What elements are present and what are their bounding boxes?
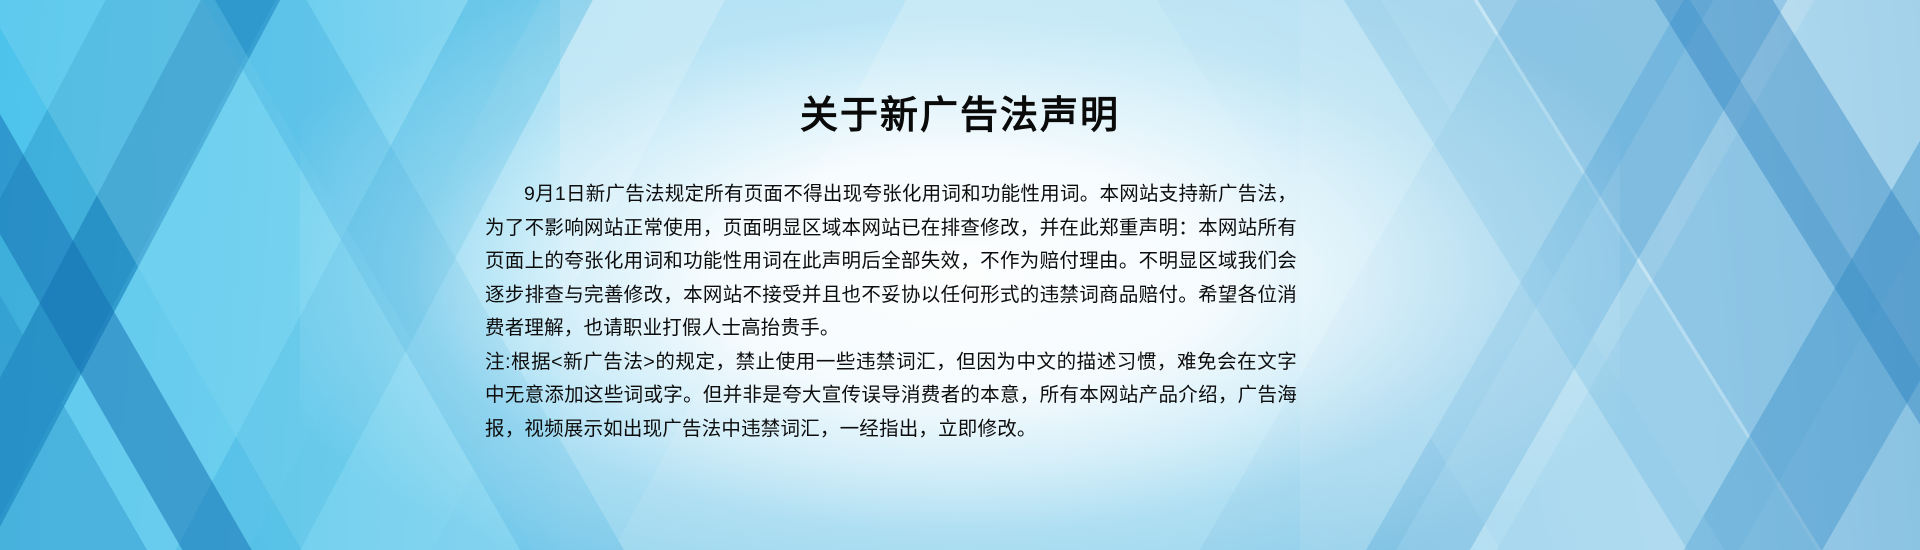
advertising-law-statement-banner: 关于新广告法声明 9月1日新广告法规定所有页面不得出现夸张化用词和功能性用词。本…: [0, 0, 1920, 550]
statement-paragraph-1: 9月1日新广告法规定所有页面不得出现夸张化用词和功能性用词。本网站支持新广告法，…: [485, 178, 1297, 346]
statement-paragraph-2: 注:根据<新广告法>的规定，禁止使用一些违禁词汇，但因为中文的描述习惯，难免会在…: [485, 346, 1297, 447]
statement-content: 关于新广告法声明 9月1日新广告法规定所有页面不得出现夸张化用词和功能性用词。本…: [0, 0, 1920, 550]
page-title: 关于新广告法声明: [0, 90, 1920, 142]
statement-body: 9月1日新广告法规定所有页面不得出现夸张化用词和功能性用词。本网站支持新广告法，…: [485, 178, 1297, 446]
